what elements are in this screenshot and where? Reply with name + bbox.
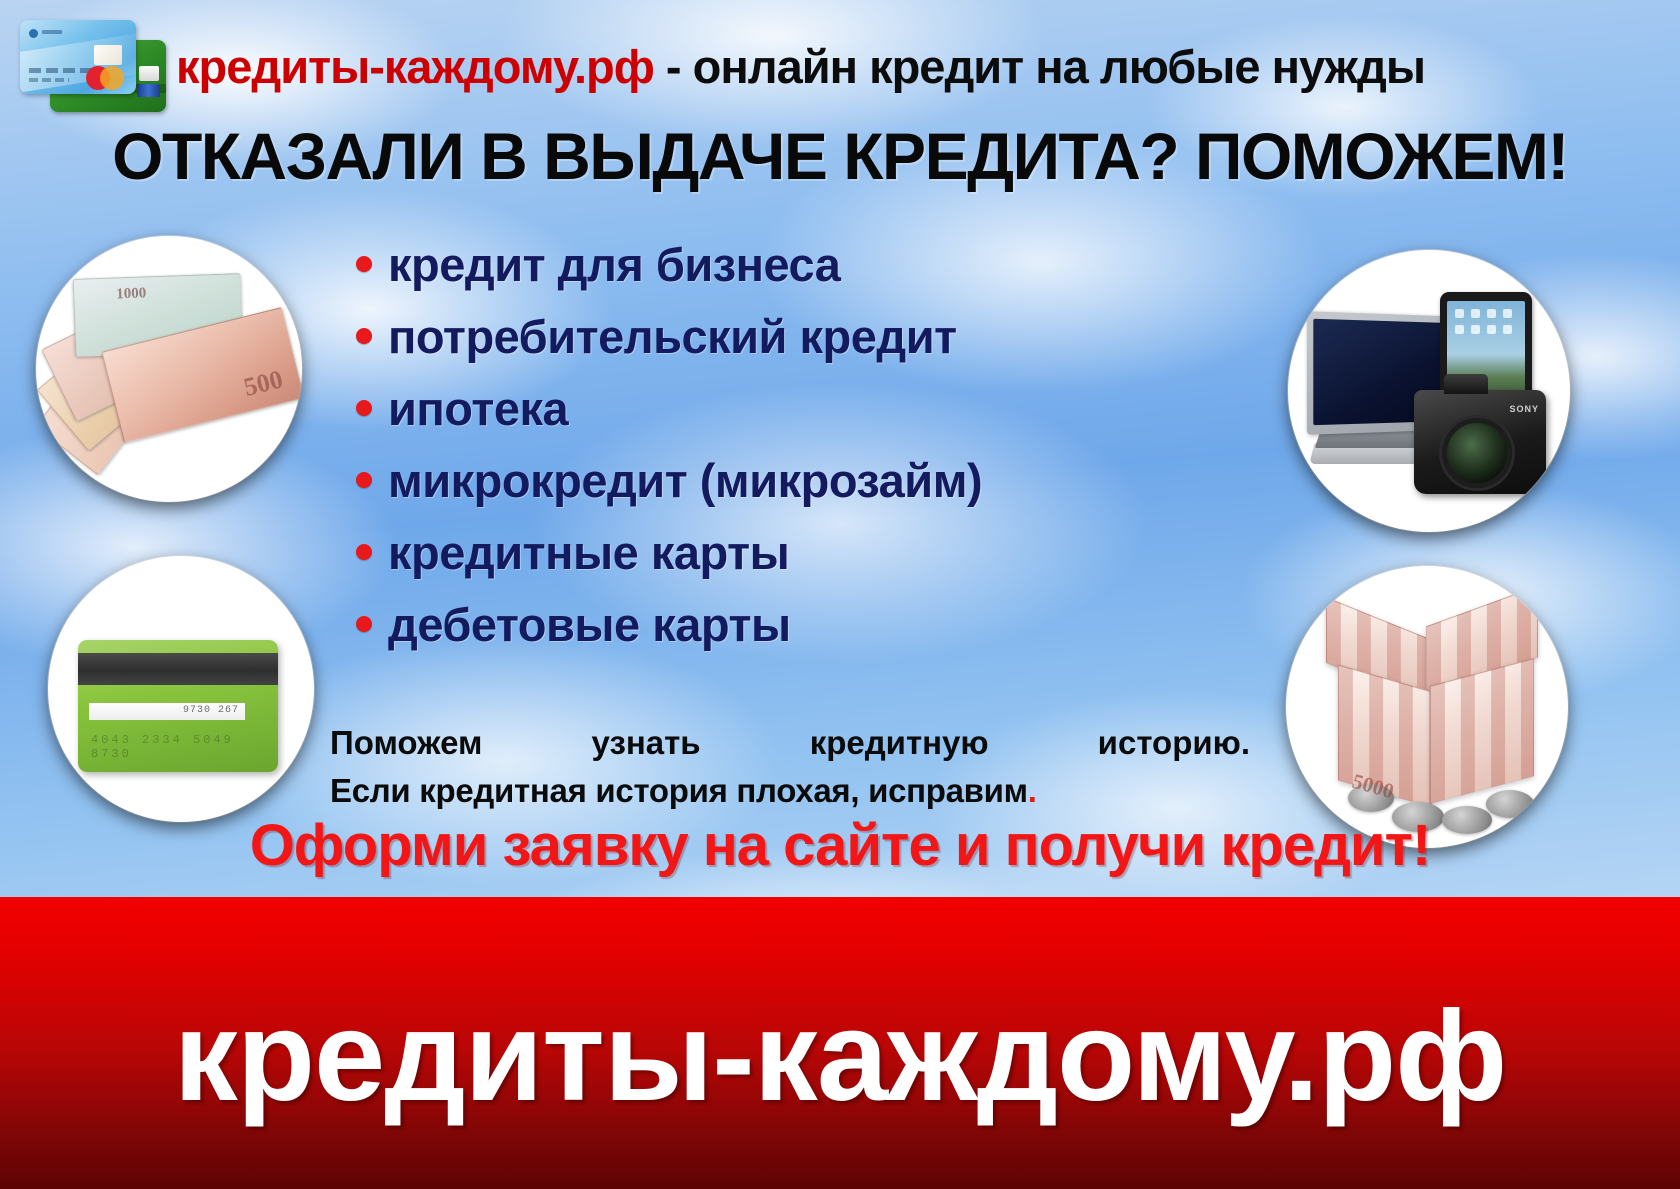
bullet-dot-icon [356,544,372,560]
subtext-line-2-text: Если кредитная история плохая, исправим [330,772,1028,809]
subtext-line-1: Поможем узнать кредитную историю. [330,724,1250,762]
credit-advertisement-banner: кредиты-каждому.рф - онлайн кредит на лю… [0,0,1680,1189]
mastercard-icon-right [100,66,124,90]
card-chip [139,66,159,81]
credit-cards-icon [8,8,176,120]
page-headline: ОТКАЗАЛИ В ВЫДАЧЕ КРЕДИТА? ПОМОЖЕМ! [0,118,1680,194]
card-hologram [137,84,160,97]
laptop-tablet-camera-photo: SONY [1288,250,1570,532]
list-item-label: дебетовые карты [388,597,791,652]
tagline-text: - онлайн кредит на любые нужды [654,40,1425,93]
list-item: дебетовые карты [356,588,1256,660]
list-item-label: микрокредит (микрозайм) [388,453,982,508]
bank-logo-dot [29,29,38,38]
brand-name: кредиты-каждому.рф [176,40,654,93]
header-tagline: кредиты-каждому.рф - онлайн кредит на лю… [176,36,1674,98]
camera-viewfinder [1444,374,1488,394]
call-to-action-text: Оформи заявку на сайте и получи кредит! [0,812,1680,879]
bottom-domain-banner: кредиты-каждому.рф [0,897,1680,1189]
signature-code: 9730 267 [183,705,239,716]
list-item: кредит для бизнеса [356,228,1256,300]
services-list: кредит для бизнеса потребительский креди… [356,228,1256,660]
bullet-dot-icon [356,616,372,632]
bottom-domain-text: кредиты-каждому.рф [174,983,1506,1130]
banknote-denomination: 500 [241,364,286,403]
list-item-label: ипотека [388,381,568,436]
camera-lens [1442,418,1512,488]
list-item: потребительский кредит [356,300,1256,372]
subtext-line-2-period: . [1028,772,1037,809]
list-item-label: потребительский кредит [388,309,957,364]
list-item: ипотека [356,372,1256,444]
green-credit-card-photo: 9730 267 4043 2334 5049 8730 [48,556,314,822]
magnetic-stripe [78,653,278,685]
camera-device: SONY [1414,390,1546,494]
bullet-dot-icon [356,328,372,344]
card-holder-line [29,78,69,82]
credit-card-graphic: 9730 267 4043 2334 5049 8730 [78,640,278,772]
list-item: кредитные карты [356,516,1256,588]
banknote-house-photo: 5000 [1286,566,1568,848]
bullet-dot-icon [356,472,372,488]
bullet-dot-icon [356,256,372,272]
signature-panel: 9730 267 [89,703,245,720]
blue-card-graphic [20,20,136,94]
banknote-denomination: 1000 [116,285,147,303]
ruble-banknotes-photo: 100 1000 500 [36,236,302,502]
camera-brand-label: SONY [1509,404,1539,414]
card-hologram-icon [94,45,122,65]
list-item: микрокредит (микрозайм) [356,444,1256,516]
bullet-dot-icon [356,400,372,416]
embossed-card-number: 4043 2334 5049 8730 [91,733,278,761]
list-item-label: кредит для бизнеса [388,237,840,292]
bank-name-line [42,30,62,34]
list-item-label: кредитные карты [388,525,789,580]
subtext-line-2: Если кредитная история плохая, исправим. [330,772,1250,810]
subtext-line-1-text: Поможем узнать кредитную историю. [330,724,1250,762]
